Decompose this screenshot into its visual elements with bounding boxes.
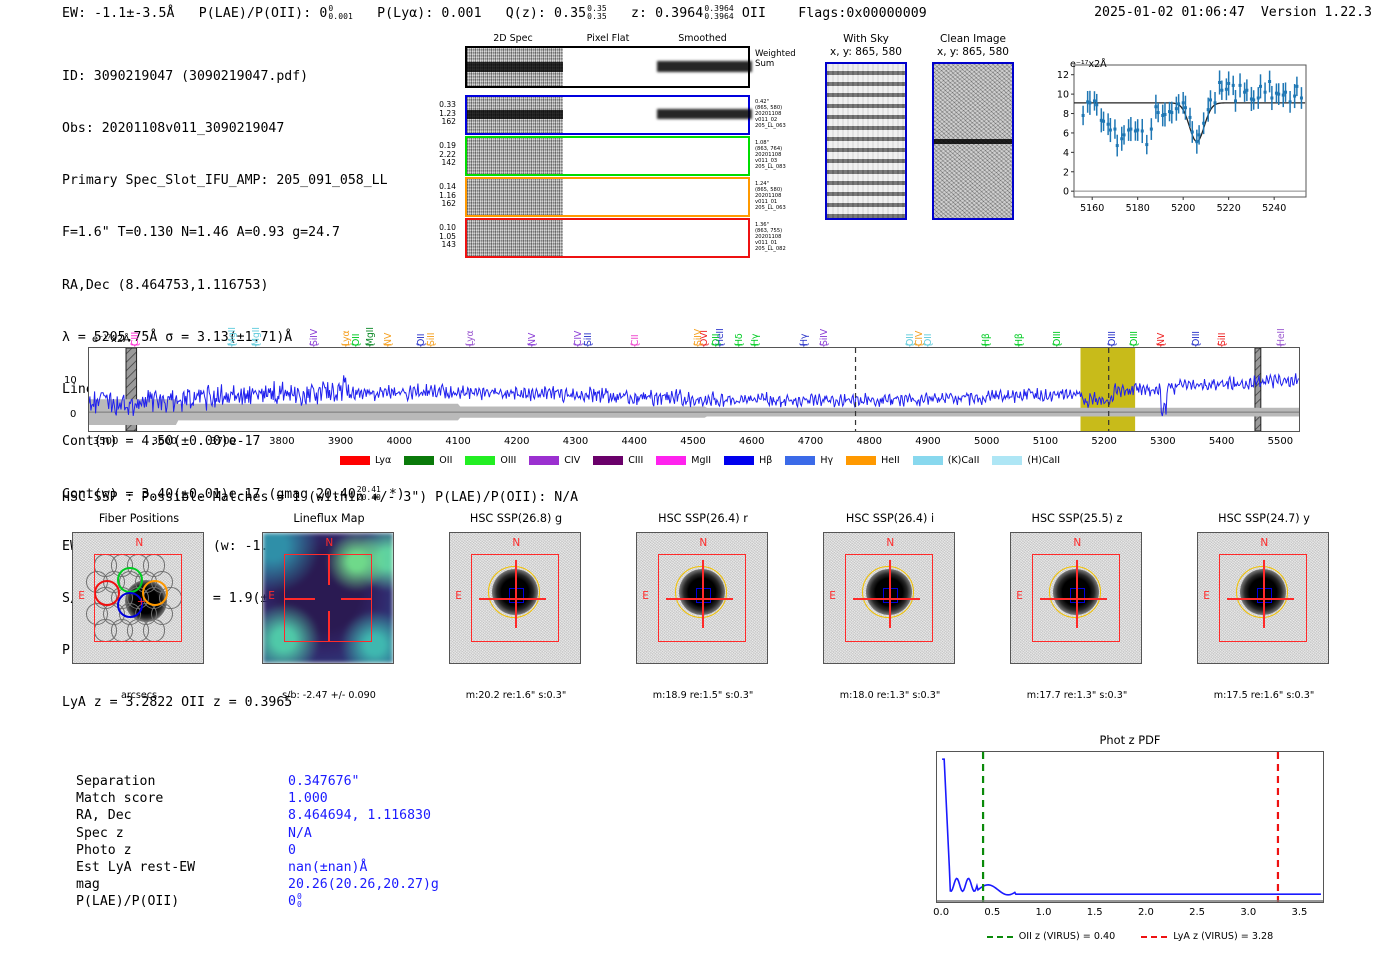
spectrum-xtick: 3500 (93, 436, 118, 447)
spectrum-xtick: 3600 (152, 436, 177, 447)
compass-n-label: N (1073, 537, 1081, 549)
spectrum-svg (89, 348, 1299, 431)
match-table-key: Spec z (76, 825, 124, 842)
timestamp: 2025-01-02 01:06:47 (1094, 5, 1245, 20)
phot-z-xtick: 1.0 (1036, 907, 1052, 918)
with-sky-title: With Sky (818, 33, 914, 46)
compass-n-label: N (699, 537, 707, 549)
spectrum-xtick: 5200 (1091, 436, 1116, 447)
fiber-2dspec (467, 97, 563, 133)
emission-line-brace: { (309, 334, 320, 348)
legend-swatch (404, 456, 434, 465)
fiber-stat: 143 (439, 241, 456, 250)
cutout-axes: NE-4-4-2-2002244 (1197, 532, 1329, 664)
match-table-value: 0 (288, 842, 296, 859)
fiber-row: 0.192.221421.08"(863, 764)20201108v011_0… (465, 136, 750, 176)
legend-label: (K)CaII (948, 455, 980, 466)
fiber-row-meta: 1.24"(865, 580)20201108v011_01205_LL_063 (755, 181, 786, 211)
weighted-sum-2dspec (467, 48, 563, 86)
spectrum-legend: LyαOIIOIIICIVCIIIMgIIHβHγHeII(K)CaII(H)C… (0, 452, 1400, 468)
plya-label: P(Lyα): (377, 6, 433, 21)
legend-item: OIII (465, 455, 516, 466)
spectrum-unit-label: e⁻¹⁷x2Å (92, 334, 130, 345)
legend-swatch (913, 456, 943, 465)
spectrum-xtick: 5500 (1268, 436, 1293, 447)
cutout-axes: NE-4-4-2-2002244 (262, 532, 394, 664)
with-sky-coords: x, y: 865, 580 (818, 46, 914, 59)
phot-z-pdf-plot: Phot z PDF 0.00.51.01.52.02.53.03.5 OII … (936, 733, 1324, 923)
header-summary-line: EW: -1.1±-3.5Å P(LAE)/P(OII): 000.001 P(… (62, 5, 927, 21)
match-table-key: Match score (76, 790, 163, 807)
hsc-cutout-panel: HSC SSP(26.8) gNE-4-4-2-2002244m:20.2 re… (425, 512, 607, 525)
ew-label: EW: (62, 6, 86, 21)
col-title-pixelflat: Pixel Flat (565, 33, 651, 44)
legend-label: Hβ (759, 455, 772, 466)
emission-line-brace: { (341, 334, 352, 348)
spectrum-xtick: 3800 (269, 436, 294, 447)
compass-e-label: E (78, 590, 85, 602)
match-table-key: Est LyA rest-EW (76, 859, 195, 876)
weighted-sum-label: Weighted Sum (755, 49, 796, 69)
cutout-axes: NE-4-4-2-2002244 (823, 532, 955, 664)
fiber-stat: 162 (439, 118, 456, 127)
legend-item: MgII (656, 455, 711, 466)
fiber-2dspec (467, 138, 563, 174)
fiber-pixelflat (567, 138, 653, 174)
compass-n-label: N (1260, 537, 1268, 549)
emission-line-brace: { (351, 334, 362, 348)
emission-line-brace: { (819, 334, 830, 348)
phot-z-xtick: 0.0 (933, 907, 949, 918)
clean-image-image (932, 62, 1014, 220)
match-table-value: N/A (288, 825, 312, 842)
spectrum-ytick-10: 10 (64, 375, 77, 386)
compass-n-label: N (325, 537, 333, 549)
cutout-axes: +NE-4-4-2-2002244 (72, 532, 204, 664)
emission-line-brace: { (583, 334, 594, 348)
z-value: 0.3964 (655, 6, 703, 21)
phot-z-xtick: 2.5 (1189, 907, 1205, 918)
legend-label: Lyα (375, 455, 391, 466)
phot-z-svg (937, 752, 1323, 902)
spectrum-xtick: 4600 (739, 436, 764, 447)
qz-label: Q(z): (506, 6, 546, 21)
z-label: z: (631, 6, 647, 21)
cutout-footer: m:17.5 re:1.6" s:0.3" (1173, 690, 1355, 701)
emission-line-brace: { (1107, 334, 1118, 348)
fiber-meta-line: 205_LL_063 (755, 205, 786, 211)
phot-z-legend-item: OII z (VIRUS) = 0.40 (987, 931, 1116, 942)
col-title-2dspec: 2D Spec (465, 33, 561, 44)
cutout-axes: NE-4-4-2-2002244 (636, 532, 768, 664)
match-table-key: mag (76, 876, 100, 893)
fiber-meta-line: 205_LL_063 (755, 123, 786, 129)
weighted-sum-line1: Weighted (755, 49, 796, 59)
emission-line-brace: { (1276, 334, 1287, 348)
fiber-meta-line: 205_LL_083 (755, 164, 786, 170)
fiber-row: 0.141.161621.24"(865, 580)20201108v011_0… (465, 177, 750, 217)
spectrum-xtick: 4300 (563, 436, 588, 447)
cutout-axes: NE-4-4-2-2002244 (1010, 532, 1142, 664)
spectrum-xtick: 5400 (1209, 436, 1234, 447)
plae-poii-range: 00.001 (328, 5, 353, 21)
compass-n-label: N (886, 537, 894, 549)
spectrum-xtick: 5100 (1033, 436, 1058, 447)
svg-text:5240: 5240 (1262, 203, 1286, 214)
fiber-row: 0.331.231620.42"(865, 580)20201108v011_0… (465, 95, 750, 135)
plya-value: 0.001 (441, 6, 481, 21)
legend-label: OII (439, 455, 452, 466)
match-table-value: 1.000 (288, 790, 328, 807)
header-timestamp-version: 2025-01-02 01:06:47 Version 1.22.3 (1094, 5, 1372, 20)
col-title-smoothed: Smoothed (655, 33, 750, 44)
legend-label: CIII (628, 455, 643, 466)
emission-line-brace: { (251, 334, 262, 348)
fiber-2dspec (467, 220, 563, 256)
legend-label: OIII (500, 455, 516, 466)
match-table-value: 000 (288, 893, 302, 910)
phot-z-xtick: 0.5 (984, 907, 1000, 918)
legend-swatch (785, 456, 815, 465)
spectrum-xtick: 4200 (504, 436, 529, 447)
fiber-stat: 162 (439, 200, 456, 209)
compass-e-label: E (455, 590, 462, 602)
svg-text:5220: 5220 (1217, 203, 1241, 214)
fiber-pixelflat (567, 97, 653, 133)
with-sky-image (825, 62, 907, 220)
fiber-meta-line: 205_LL_082 (755, 246, 786, 252)
spectrum-xtick: 4100 (445, 436, 470, 447)
phot-z-legend-swatch (1141, 936, 1167, 938)
emission-line-brace: { (365, 334, 376, 348)
cutout-title: Lineflux Map (238, 512, 420, 525)
match-table-key: Photo z (76, 842, 132, 859)
legend-label: (H)CaII (1027, 455, 1060, 466)
phot-z-xtick: 2.0 (1138, 907, 1154, 918)
hsc-cutout-panel: HSC SSP(24.7) yNE-4-4-2-2002244m:17.5 re… (1173, 512, 1355, 525)
version-label: Version 1.22.3 (1261, 5, 1372, 20)
legend-item: (H)CaII (992, 455, 1060, 466)
legend-label: HeII (881, 455, 900, 466)
spectrum-xtick: 4400 (622, 436, 647, 447)
cutout-axes: NE-4-4-2-2002244 (449, 532, 581, 664)
fiber-row-meta: 0.42"(865, 580)20201108v011_02205_LL_063 (755, 99, 786, 129)
cutout-title: HSC SSP(26.4) r (612, 512, 794, 525)
fiber-row-stats: 0.101.05143 (439, 224, 456, 250)
cutout-title: HSC SSP(26.8) g (425, 512, 607, 525)
legend-item: OII (404, 455, 452, 466)
svg-text:5200: 5200 (1171, 203, 1195, 214)
fiber-stat: 142 (439, 159, 456, 168)
emission-line-brace: { (1156, 334, 1167, 348)
legend-item: HeII (846, 455, 900, 466)
hsc-cutout-panel: HSC SSP(25.5) zNE-4-4-2-2002244m:17.7 re… (986, 512, 1168, 525)
spectrum-xtick: 5300 (1150, 436, 1175, 447)
full-spectrum-plot: CIII{MgII{MgII{SiIV{Lyα{OII{MgII{NV{OII{… (0, 262, 1400, 477)
match-plae-range: 00 (297, 893, 302, 909)
compass-e-label: E (829, 590, 836, 602)
legend-swatch (593, 456, 623, 465)
emission-line-brace: { (227, 334, 238, 348)
weighted-sum-row (465, 46, 750, 88)
svg-text:5180: 5180 (1126, 203, 1150, 214)
line-profile-unit-label: e⁻¹⁷x2Å (1070, 59, 1107, 70)
cutout-title: Fiber Positions (48, 512, 230, 525)
emission-line-brace: { (1129, 334, 1140, 348)
spectrum-xtick: 5000 (974, 436, 999, 447)
info-primary-spec-slot: Primary Spec_Slot_IFU_AMP: 205_091_058_L… (62, 172, 405, 189)
cutout-footer: m:20.2 re:1.6" s:0.3" (425, 690, 607, 701)
spectrum-xtick: 3700 (210, 436, 235, 447)
spectrum-xtick: 4000 (387, 436, 412, 447)
with-sky-cutout: With Sky x, y: 865, 580 (818, 33, 914, 220)
svg-text:6: 6 (1063, 128, 1069, 139)
phot-z-axes (936, 751, 1324, 903)
legend-item: Lyα (340, 455, 391, 466)
svg-text:8: 8 (1063, 109, 1069, 120)
legend-item: Hγ (785, 455, 833, 466)
clean-image-coords: x, y: 865, 580 (925, 46, 1021, 59)
clean-image-title: Clean Image (925, 33, 1021, 46)
qz-value: 0.35 (554, 6, 586, 21)
emission-line-brace: { (1014, 334, 1025, 348)
match-table-value: 20.26(20.26,20.27)g (288, 876, 439, 893)
hsc-cutout-panel: Lineflux MapNE-4-4-2-2002244s/b: -2.47 +… (238, 512, 420, 525)
match-table-value: 8.464694, 1.116830 (288, 807, 431, 824)
emission-line-brace: { (1052, 334, 1063, 348)
legend-label: Hγ (820, 455, 833, 466)
weighted-sum-line2: Sum (755, 59, 796, 69)
phot-z-legend-item: LyA z (VIRUS) = 3.28 (1141, 931, 1273, 942)
svg-text:2: 2 (1063, 167, 1069, 178)
compass-e-label: E (642, 590, 649, 602)
svg-text:10: 10 (1057, 90, 1069, 101)
spectrum-axes (88, 347, 1300, 432)
match-table-key: P(LAE)/P(OII) (76, 893, 179, 910)
compass-e-label: E (268, 590, 275, 602)
info-id: ID: 3090219047 (3090219047.pdf) (62, 68, 405, 85)
plae-poii-label: P(LAE)/P(OII): (199, 6, 312, 21)
emission-line-brace: { (426, 334, 437, 348)
fiber-pixelflat (567, 179, 653, 215)
svg-text:5160: 5160 (1080, 203, 1104, 214)
legend-swatch (656, 456, 686, 465)
spectrum-xtick: 4500 (680, 436, 705, 447)
emission-line-brace: { (527, 334, 538, 348)
legend-item: Hβ (724, 455, 772, 466)
legend-label: CIV (564, 455, 580, 466)
emission-line-brace: { (799, 334, 810, 348)
compass-e-label: E (1016, 590, 1023, 602)
fiber-smoothed (657, 97, 752, 133)
compass-n-label: N (512, 537, 520, 549)
fiber-row-stats: 0.192.22142 (439, 142, 456, 168)
legend-item: CIV (529, 455, 580, 466)
emission-line-brace: { (1191, 334, 1202, 348)
cutout-footer: m:18.0 re:1.3" s:0.3" (799, 690, 981, 701)
z-species: OII (742, 6, 766, 21)
weighted-sum-smoothed (657, 48, 752, 86)
fiber-pixelflat (567, 220, 653, 256)
spectrum-xtick: 4800 (856, 436, 881, 447)
legend-swatch (992, 456, 1022, 465)
emission-line-brace: { (923, 334, 934, 348)
legend-label: MgII (691, 455, 711, 466)
cutout-footer: m:17.7 re:1.3" s:0.3" (986, 690, 1168, 701)
match-table-value: nan(±nan)Å (288, 859, 367, 876)
emission-line-brace: { (573, 334, 584, 348)
emission-line-brace: { (130, 334, 141, 348)
hsc-section-header: HSC-SSP : Possible Matches = 1 (within +… (62, 490, 578, 505)
match-table-value: 0.347676" (288, 773, 359, 790)
emission-line-brace: { (465, 334, 476, 348)
svg-text:12: 12 (1057, 70, 1069, 81)
spec2d-panel-group: 2D Spec Pixel Flat Smoothed Weighted Sum… (425, 33, 785, 248)
clean-image-cutout: Clean Image x, y: 865, 580 (925, 33, 1021, 220)
fiber-smoothed (657, 220, 752, 256)
z-range: 0.39640.3964 (704, 5, 734, 21)
hsc-cutout-panel: HSC SSP(26.4) rNE-4-4-2-2002244m:18.9 re… (612, 512, 794, 525)
match-table-key: RA, Dec (76, 807, 132, 824)
hsc-cutout-panel: HSC SSP(26.4) iNE-4-4-2-2002244m:18.0 re… (799, 512, 981, 525)
emission-line-brace: { (981, 334, 992, 348)
phot-z-xtick: 3.0 (1240, 907, 1256, 918)
fiber-row-stats: 0.331.23162 (439, 101, 456, 127)
line-profile-plot: 02468101251605180520052205240 e⁻¹⁷x2Å (1040, 57, 1312, 223)
fiber-smoothed (657, 179, 752, 215)
info-seeing-params: F=1.6" T=0.130 N=1.46 A=0.93 g=24.7 (62, 224, 405, 241)
legend-swatch (529, 456, 559, 465)
plae-poii-value: 0 (319, 6, 327, 21)
legend-swatch (724, 456, 754, 465)
cutout-title: HSC SSP(25.5) z (986, 512, 1168, 525)
spectrum-x-ticks: 3500360037003800390040004100420043004400… (0, 436, 1400, 452)
phot-z-legend-label: OII z (VIRUS) = 0.40 (1019, 931, 1116, 942)
fiber-row: 0.101.051431.36"(863, 755)20201108v011_0… (465, 218, 750, 258)
match-table-key: Separation (76, 773, 155, 790)
fiber-row-meta: 1.36"(863, 755)20201108v011_01205_LL_082 (755, 222, 786, 252)
cutout-footer: m:18.9 re:1.5" s:0.3" (612, 690, 794, 701)
ew-value: -1.1±-3.5Å (94, 6, 174, 21)
info-obs: Obs: 20201108v011_3090219047 (62, 120, 405, 137)
spectrum-ytick-0: 0 (70, 409, 76, 420)
hsc-cutout-panel: Fiber Positions+NE-4-4-2-2002244arcsecs (48, 512, 230, 525)
spectrum-xtick: 4900 (915, 436, 940, 447)
fiber-smoothed (657, 138, 752, 174)
phot-z-legend-label: LyA z (VIRUS) = 3.28 (1173, 931, 1273, 942)
cutout-title: HSC SSP(24.7) y (1173, 512, 1355, 525)
emission-line-brace: { (750, 334, 761, 348)
phot-z-xtick: 3.5 (1292, 907, 1308, 918)
emission-line-brace: { (734, 334, 745, 348)
legend-swatch (846, 456, 876, 465)
flags-value: Flags:0x00000009 (798, 6, 927, 21)
svg-text:4: 4 (1063, 148, 1069, 159)
legend-swatch (465, 456, 495, 465)
emission-line-brace: { (693, 334, 704, 348)
legend-item: (K)CaII (913, 455, 980, 466)
qz-range: 0.350.35 (587, 5, 607, 21)
spectrum-xtick: 4700 (798, 436, 823, 447)
emission-line-brace: { (711, 334, 722, 348)
fiber-row-stats: 0.141.16162 (439, 183, 456, 209)
spectrum-xtick: 3900 (328, 436, 353, 447)
fiber-2dspec (467, 179, 563, 215)
cutout-title: HSC SSP(26.4) i (799, 512, 981, 525)
compass-e-label: E (1203, 590, 1210, 602)
emission-line-brace: { (630, 334, 641, 348)
cutout-footer: s/b: -2.47 +/- 0.090 (238, 690, 420, 701)
cutout-footer: arcsecs (48, 690, 230, 701)
legend-swatch (340, 456, 370, 465)
emission-line-brace: { (383, 334, 394, 348)
weighted-sum-pixelflat (567, 48, 653, 86)
svg-text:0: 0 (1063, 187, 1069, 198)
legend-item: CIII (593, 455, 643, 466)
emission-line-brace: { (1217, 334, 1228, 348)
phot-z-legend-swatch (987, 936, 1013, 938)
compass-n-label: N (135, 537, 143, 549)
phot-z-legend: OII z (VIRUS) = 0.40LyA z (VIRUS) = 3.28 (936, 931, 1324, 942)
fiber-row-meta: 1.08"(863, 764)20201108v011_03205_LL_083 (755, 140, 786, 170)
phot-z-xtick: 1.5 (1087, 907, 1103, 918)
phot-z-pdf-title: Phot z PDF (936, 733, 1324, 747)
line-profile-svg: 02468101251605180520052205240 (1040, 57, 1312, 223)
